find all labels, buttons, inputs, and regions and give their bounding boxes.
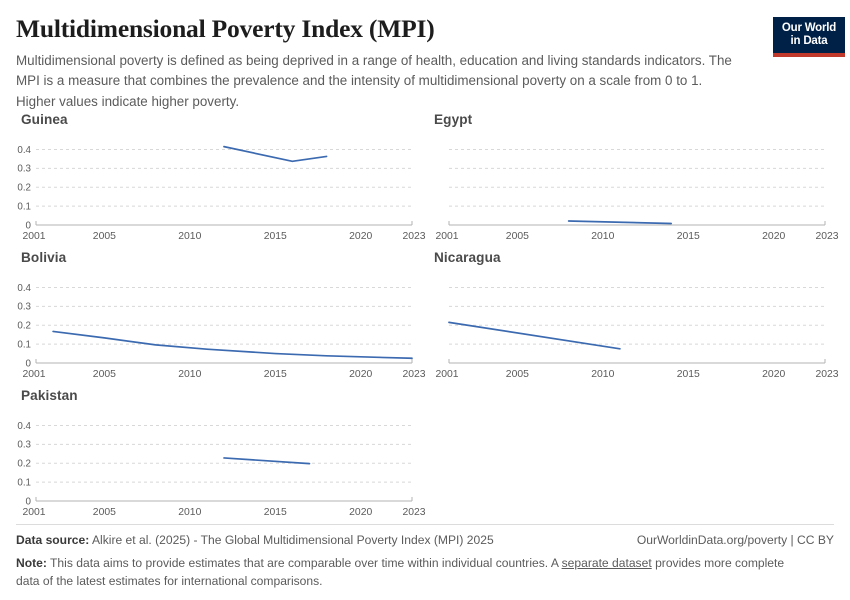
x-axis-tick-label: 2010 bbox=[178, 231, 201, 242]
facet-egypt: Egypt200120052010201520202023 bbox=[413, 112, 825, 249]
note-label: Note: bbox=[16, 556, 47, 570]
facet-nicaragua: Nicaragua200120052010201520202023 bbox=[413, 250, 825, 387]
x-axis-tick-label: 2020 bbox=[762, 369, 785, 380]
y-axis-tick-label: 0.1 bbox=[17, 202, 31, 213]
x-axis-tick-label: 2010 bbox=[591, 231, 614, 242]
page-title: Multidimensional Poverty Index (MPI) bbox=[16, 14, 736, 44]
footer-source-row: Data source: Alkire et al. (2025) - The … bbox=[16, 533, 834, 547]
footer-divider bbox=[16, 524, 834, 525]
facet-pakistan: Pakistan0.10.20.30.402001200520102015202… bbox=[0, 388, 412, 525]
x-axis-tick-label: 2020 bbox=[349, 369, 372, 380]
x-axis-tick-label: 2015 bbox=[264, 369, 287, 380]
y-axis-tick-label: 0.1 bbox=[17, 478, 31, 489]
y-axis-tick-label: 0.2 bbox=[17, 183, 31, 194]
y-axis-tick-label: 0.2 bbox=[17, 459, 31, 470]
y-axis-tick-label: 0.1 bbox=[17, 340, 31, 351]
line-chart-egypt: 200120052010201520202023 bbox=[413, 133, 825, 249]
chart-subtitle: Multidimensional poverty is defined as b… bbox=[16, 51, 741, 112]
line-chart-guinea: 0.10.20.30.40200120052010201520202023 bbox=[0, 133, 412, 249]
x-axis-tick-label: 2005 bbox=[93, 507, 116, 518]
x-axis-tick-label: 2005 bbox=[93, 231, 116, 242]
facet-plot-egypt[interactable]: 200120052010201520202023 bbox=[413, 133, 825, 249]
y-axis-tick-label: 0.4 bbox=[17, 283, 31, 294]
x-axis-tick-label: 2015 bbox=[677, 369, 700, 380]
y-axis-tick-label: 0.3 bbox=[17, 440, 31, 451]
data-series-line[interactable] bbox=[53, 331, 412, 358]
x-axis-tick-label: 2001 bbox=[22, 507, 45, 518]
x-axis-tick-label: 2010 bbox=[591, 369, 614, 380]
y-axis-tick-label: 0 bbox=[26, 358, 32, 369]
chart-header: Multidimensional Poverty Index (MPI) Mul… bbox=[16, 14, 834, 112]
data-series-line[interactable] bbox=[569, 221, 672, 223]
line-chart-bolivia: 0.10.20.30.40200120052010201520202023 bbox=[0, 271, 412, 387]
line-chart-nicaragua: 200120052010201520202023 bbox=[413, 271, 825, 387]
facet-title-nicaragua: Nicaragua bbox=[434, 250, 501, 265]
x-axis-tick-label: 2015 bbox=[264, 231, 287, 242]
x-axis-tick-label: 2023 bbox=[402, 507, 425, 518]
our-world-in-data-logo[interactable]: Our World in Data bbox=[773, 17, 845, 57]
facet-plot-pakistan[interactable]: 0.10.20.30.40200120052010201520202023 bbox=[0, 409, 412, 525]
x-axis-tick-label: 2001 bbox=[435, 369, 458, 380]
y-axis-tick-label: 0 bbox=[26, 496, 32, 507]
data-series-line[interactable] bbox=[224, 147, 327, 162]
chart-page: Multidimensional Poverty Index (MPI) Mul… bbox=[0, 0, 850, 600]
x-axis-tick-label: 2005 bbox=[93, 369, 116, 380]
facet-plot-guinea[interactable]: 0.10.20.30.40200120052010201520202023 bbox=[0, 133, 412, 249]
y-axis-tick-label: 0.2 bbox=[17, 321, 31, 332]
owid-url-license[interactable]: OurWorldinData.org/poverty | CC BY bbox=[637, 533, 834, 547]
x-axis-tick-label: 2015 bbox=[677, 231, 700, 242]
x-axis-tick-label: 2023 bbox=[815, 369, 838, 380]
x-axis-tick-label: 2020 bbox=[762, 231, 785, 242]
x-axis-tick-label: 2020 bbox=[349, 231, 372, 242]
y-axis-tick-label: 0.4 bbox=[17, 421, 31, 432]
x-axis-tick-label: 2010 bbox=[178, 369, 201, 380]
facet-plot-nicaragua[interactable]: 200120052010201520202023 bbox=[413, 271, 825, 387]
facet-bolivia: Bolivia0.10.20.30.4020012005201020152020… bbox=[0, 250, 412, 387]
y-axis-tick-label: 0.3 bbox=[17, 164, 31, 175]
logo-line-2: in Data bbox=[791, 35, 828, 49]
x-axis-tick-label: 2010 bbox=[178, 507, 201, 518]
facet-title-bolivia: Bolivia bbox=[21, 250, 66, 265]
facet-guinea: Guinea0.10.20.30.40200120052010201520202… bbox=[0, 112, 412, 249]
note-text-part-1: This data aims to provide estimates that… bbox=[47, 556, 562, 570]
y-axis-tick-label: 0.3 bbox=[17, 302, 31, 313]
facet-title-guinea: Guinea bbox=[21, 112, 68, 127]
x-axis-tick-label: 2001 bbox=[22, 231, 45, 242]
data-series-line[interactable] bbox=[449, 322, 620, 348]
footer-note: Note: This data aims to provide estimate… bbox=[16, 555, 806, 590]
x-axis-tick-label: 2001 bbox=[22, 369, 45, 380]
facet-plot-bolivia[interactable]: 0.10.20.30.40200120052010201520202023 bbox=[0, 271, 412, 387]
x-axis-tick-label: 2020 bbox=[349, 507, 372, 518]
data-source-text: Alkire et al. (2025) - The Global Multid… bbox=[89, 533, 493, 547]
y-axis-tick-label: 0.4 bbox=[17, 145, 31, 156]
x-axis-tick-label: 2001 bbox=[435, 231, 458, 242]
x-axis-tick-label: 2015 bbox=[264, 507, 287, 518]
y-axis-tick-label: 0 bbox=[26, 220, 32, 231]
data-source-label: Data source: bbox=[16, 533, 89, 547]
x-axis-tick-label: 2023 bbox=[815, 231, 838, 242]
separate-dataset-link[interactable]: separate dataset bbox=[562, 556, 652, 570]
data-source: Data source: Alkire et al. (2025) - The … bbox=[16, 533, 494, 547]
x-axis-tick-label: 2005 bbox=[506, 369, 529, 380]
x-axis-tick-label: 2005 bbox=[506, 231, 529, 242]
facet-grid: Guinea0.10.20.30.40200120052010201520202… bbox=[0, 112, 850, 522]
facet-title-egypt: Egypt bbox=[434, 112, 472, 127]
facet-title-pakistan: Pakistan bbox=[21, 388, 78, 403]
logo-line-1: Our World bbox=[782, 22, 836, 36]
line-chart-pakistan: 0.10.20.30.40200120052010201520202023 bbox=[0, 409, 412, 525]
